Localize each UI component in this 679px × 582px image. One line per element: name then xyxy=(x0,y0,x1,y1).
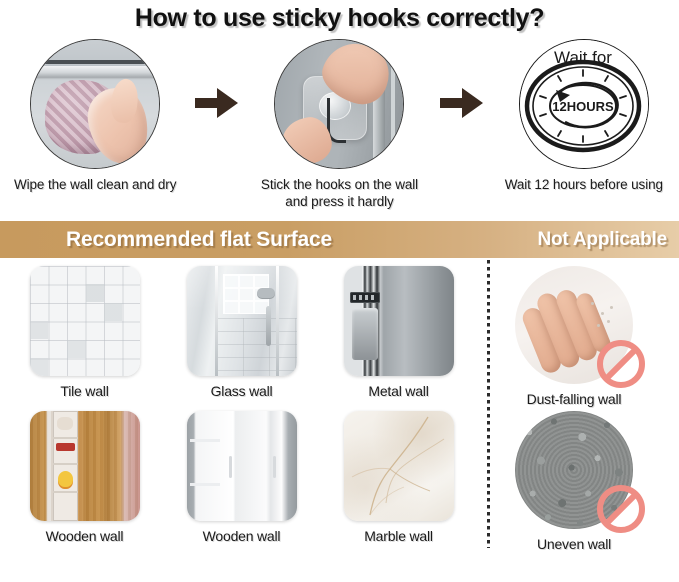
shelf-line-top xyxy=(190,439,220,442)
white-wardrobe-thumb xyxy=(187,411,297,521)
shelf-item-red xyxy=(56,443,75,451)
surface-item-wooden-wall-2: Wooden wall xyxy=(163,411,320,544)
subway-tile xyxy=(217,318,297,376)
surface-label: Tile wall xyxy=(60,383,108,399)
clock-center-text: 12HOURS xyxy=(552,99,614,114)
water-dispenser xyxy=(352,308,378,360)
stainless-steel-fridge-thumb xyxy=(344,266,454,376)
surface-label: Uneven wall xyxy=(537,536,611,552)
white-wardrobe-texture xyxy=(187,411,297,521)
grab-bar xyxy=(266,306,271,346)
page-title: How to use sticky hooks correctly? xyxy=(0,0,679,33)
surfaces-row-1: Tile wall Glass wall xyxy=(0,266,679,411)
prohibited-icon xyxy=(595,338,647,390)
shower-head xyxy=(257,288,275,298)
step-1-caption: Wipe the wall clean and dry xyxy=(14,176,176,193)
right-arrow-icon xyxy=(440,86,484,120)
surface-label: Marble wall xyxy=(364,528,433,544)
shelf-line-bottom xyxy=(190,483,220,486)
step-2-caption-line-2: and press it hardly xyxy=(261,193,418,210)
banner-not-applicable-label: Not Applicable xyxy=(537,229,667,251)
glass-texture xyxy=(187,266,297,376)
steps-row: Wipe the wall clean and dry Stick the ho… xyxy=(0,39,679,217)
glass-shower-wall-thumb xyxy=(187,266,297,376)
step-2-image xyxy=(274,39,404,169)
shelf-item-duck xyxy=(58,471,73,487)
surface-item-marble-wall: Marble wall xyxy=(320,411,477,544)
dust-speck xyxy=(610,306,613,309)
wood-texture xyxy=(30,411,140,521)
door-handle-right xyxy=(273,456,276,478)
dust-falling-wall-badge-wrap xyxy=(515,266,633,384)
surface-label: Dust-falling wall xyxy=(527,391,622,407)
surface-item-metal-wall: Metal wall xyxy=(320,266,477,399)
dust-speck xyxy=(591,302,594,305)
door-handle-left xyxy=(229,456,232,478)
wall-edge-2 xyxy=(391,40,395,168)
dotted-vertical-divider xyxy=(487,260,490,548)
step-2-caption: Stick the hooks on the wall and press it… xyxy=(261,176,418,210)
clock-top-text: Wait for xyxy=(554,48,612,67)
step-1: Wipe the wall clean and dry xyxy=(0,39,190,193)
surface-item-tile-wall: Tile wall xyxy=(6,266,163,399)
metal-texture xyxy=(344,266,454,376)
surface-label: Glass wall xyxy=(211,383,273,399)
clock-illustration: 12HOURS Wait for xyxy=(520,40,648,168)
surfaces-section: Tile wall Glass wall xyxy=(0,258,679,556)
step-2-caption-line-1: Stick the hooks on the wall xyxy=(261,176,418,193)
glass-door-edge-right xyxy=(276,266,279,376)
marble-texture xyxy=(344,411,454,521)
shelf-item-white xyxy=(57,417,73,430)
surfaces-row-2: Wooden wall Wooden wall xyxy=(0,411,679,556)
surface-label: Wooden wall xyxy=(46,528,124,544)
arrow-2 xyxy=(435,39,489,167)
dust-speck xyxy=(607,320,610,323)
marble-wall-thumb xyxy=(344,411,454,521)
tile-wall-thumb xyxy=(30,266,140,376)
dust-speck xyxy=(601,312,604,315)
surface-item-uneven-wall: Uneven wall xyxy=(479,411,669,552)
tile-texture xyxy=(30,266,140,376)
step-2: Stick the hooks on the wall and press it… xyxy=(244,39,434,210)
surface-label: Metal wall xyxy=(368,383,428,399)
wall-trim-dark xyxy=(31,60,159,64)
step-3: 12HOURS Wait for Wait 12 hours before us… xyxy=(489,39,679,193)
step-3-image: 12HOURS Wait for xyxy=(519,39,649,169)
uneven-wall-badge-wrap xyxy=(515,411,633,529)
wall-trim-light xyxy=(31,66,159,77)
wood-grain-wardrobe-thumb xyxy=(30,411,140,521)
banner-recommended-label: Recommended flat Surface xyxy=(66,228,332,252)
right-arrow-icon xyxy=(195,86,239,120)
surface-item-glass-wall: Glass wall xyxy=(163,266,320,399)
surface-label: Wooden wall xyxy=(203,528,281,544)
arrow-1 xyxy=(190,39,244,167)
step-3-caption: Wait 12 hours before using xyxy=(505,176,663,193)
dust-speck xyxy=(597,324,600,327)
surface-item-dust-falling-wall: Dust-falling wall xyxy=(479,266,669,407)
section-banner: Recommended flat Surface Not Applicable xyxy=(0,221,679,258)
prohibited-icon xyxy=(595,483,647,535)
surface-item-wooden-wall-1: Wooden wall xyxy=(6,411,163,544)
glass-door-edge-left xyxy=(215,266,218,376)
step-1-image xyxy=(30,39,160,169)
control-panel xyxy=(350,292,380,303)
